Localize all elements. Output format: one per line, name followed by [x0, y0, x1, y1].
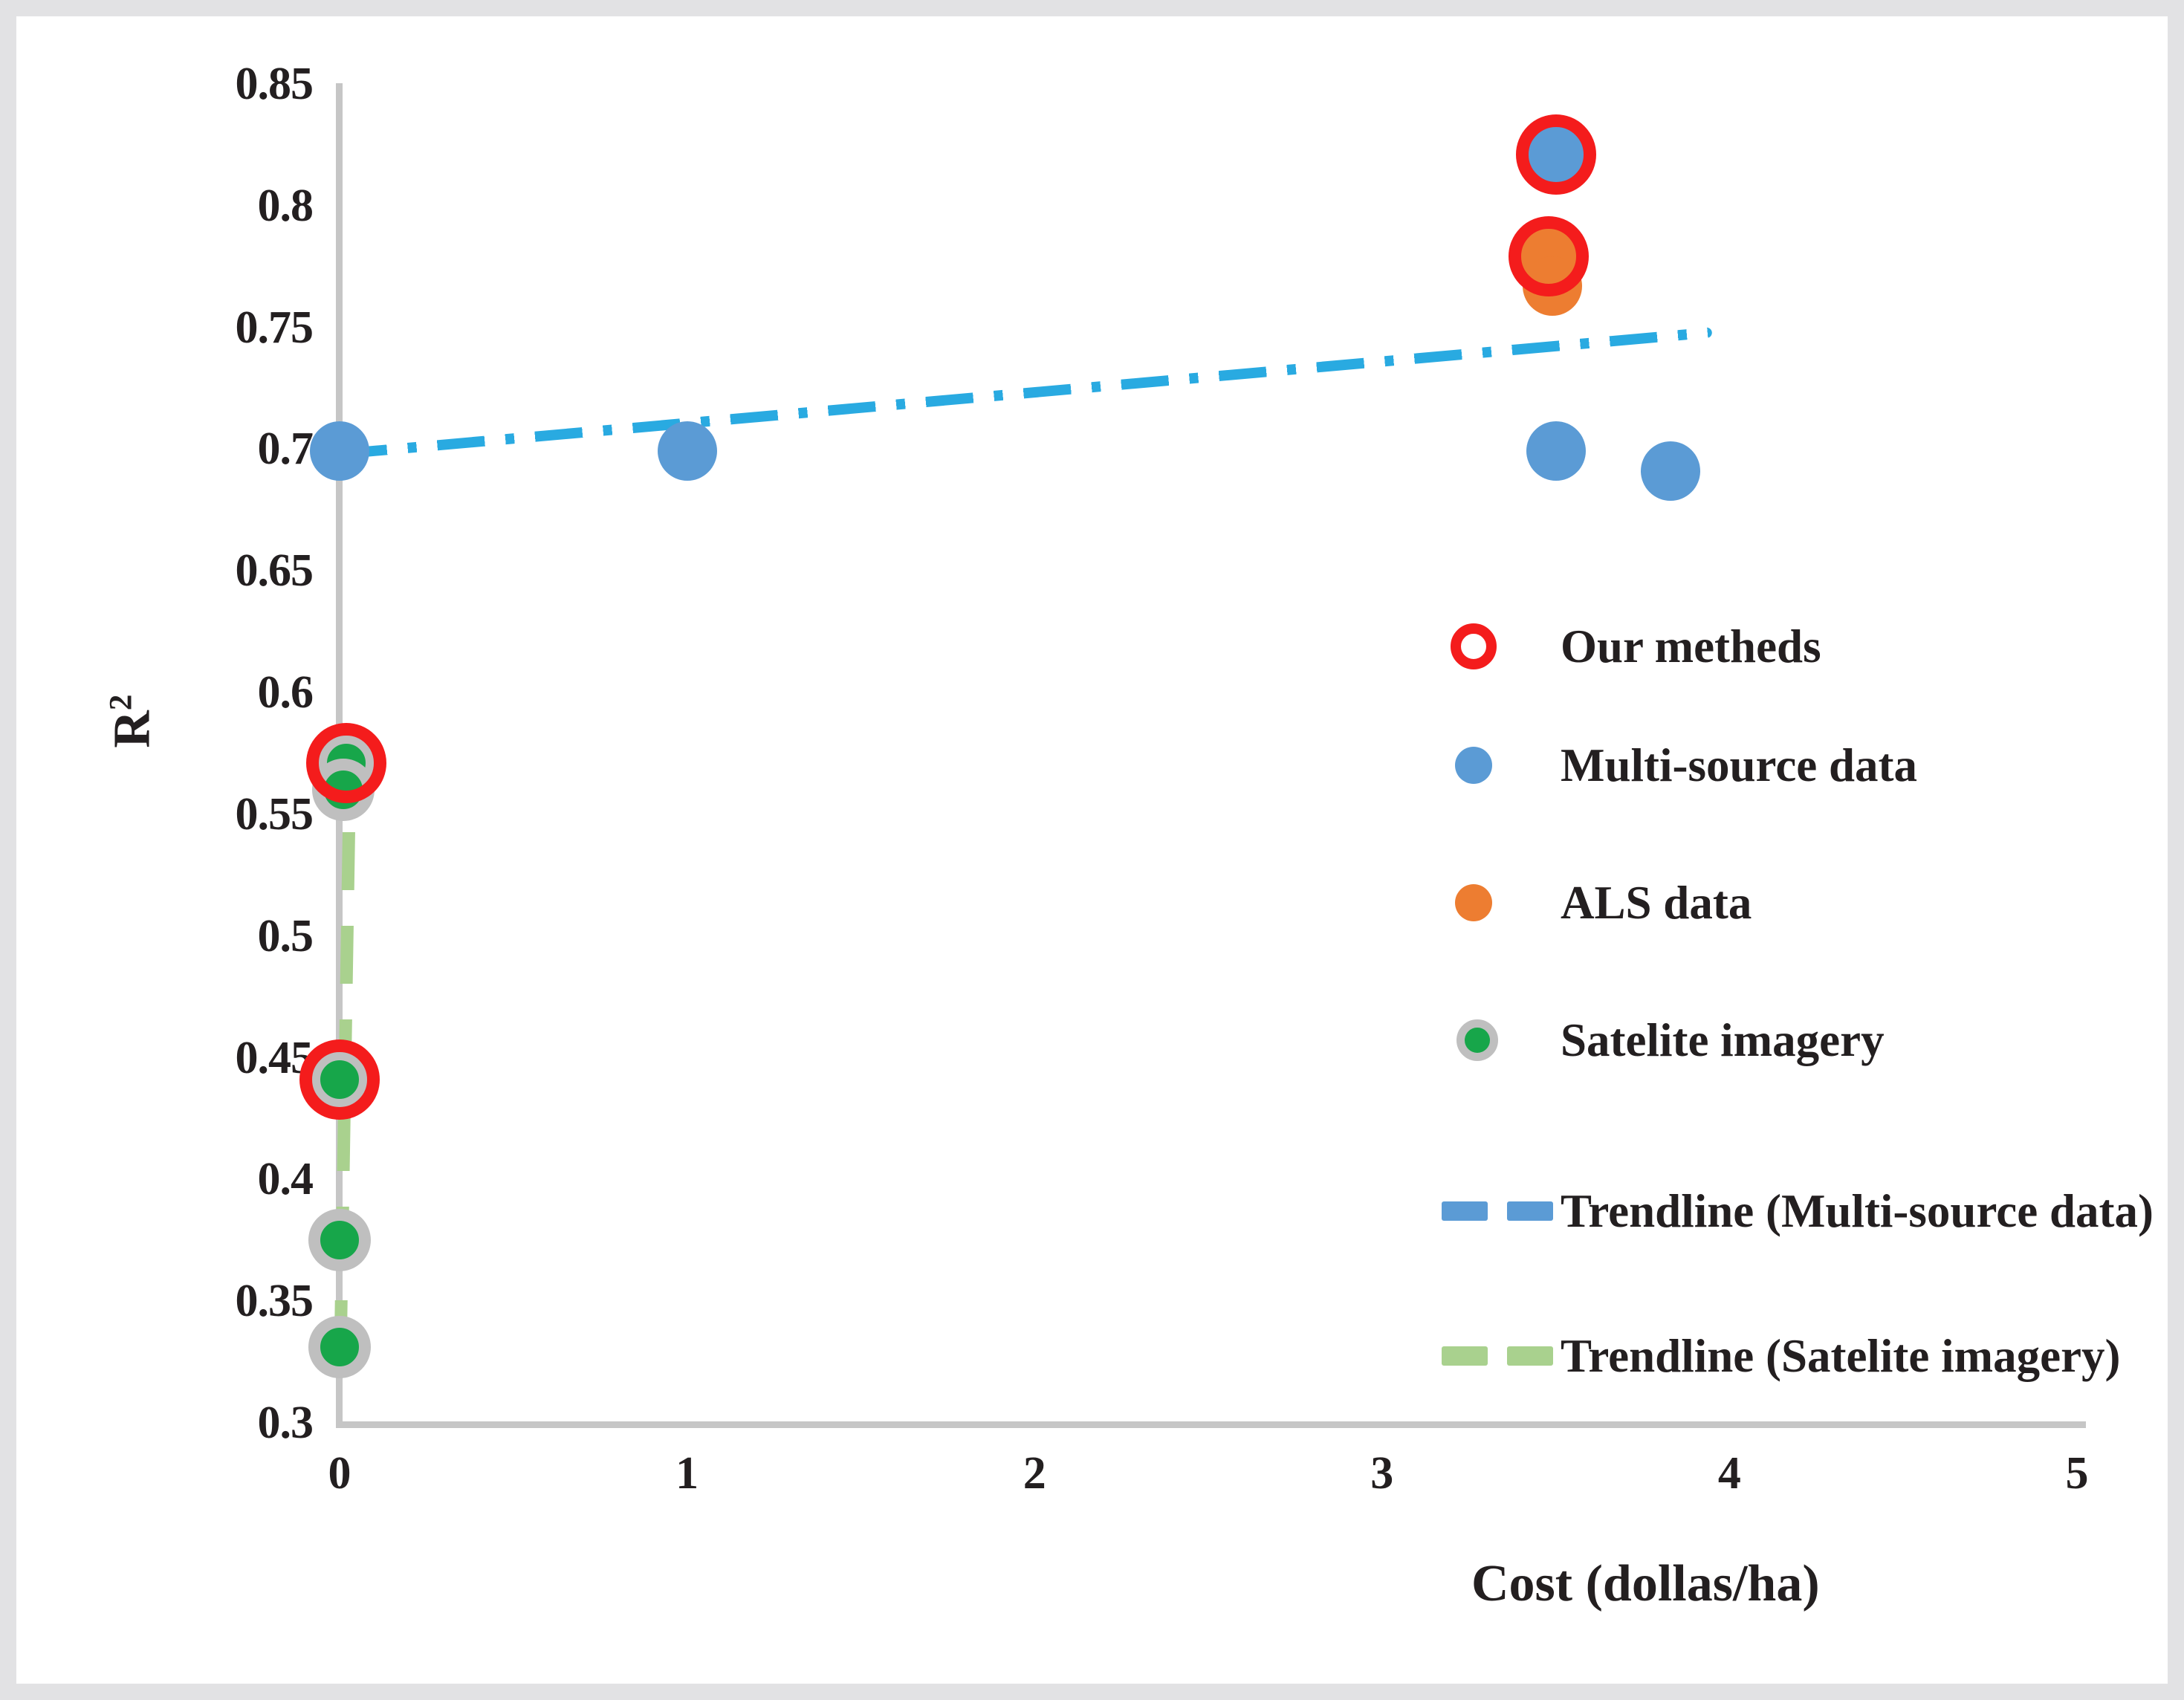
- red-ring-icon: [1451, 623, 1497, 669]
- trendline-multi-source-data: [339, 327, 1712, 459]
- legend-item[interactable]: Trendline (Satelite imagery): [1434, 1326, 2121, 1386]
- data-point-our-metheds: [1516, 114, 1596, 195]
- legend-item-label: ALS data: [1561, 880, 1752, 927]
- legend-item-label: Satelite imagery: [1561, 1017, 1885, 1064]
- filled-dot-icon: [1455, 884, 1492, 921]
- legend-filled-dot-icon: [1434, 736, 1561, 795]
- legend-dashed-line-icon: [1434, 1326, 1561, 1386]
- data-point-satelite-imagery: [308, 1316, 371, 1378]
- data-point-multi-source-data: [658, 421, 717, 481]
- legend-item[interactable]: Our metheds: [1434, 617, 1821, 676]
- data-point-multi-source-data: [310, 421, 369, 481]
- data-point-our-metheds: [306, 723, 386, 803]
- legend-green-dot-icon: [1434, 1010, 1561, 1070]
- legend-item-label: Trendline (Multi-source data): [1561, 1188, 2154, 1235]
- dashed-line-icon: [1442, 1346, 1553, 1366]
- data-point-our-metheds: [1509, 216, 1589, 296]
- legend-item-label: Multi-source data: [1561, 742, 1917, 789]
- legend-item[interactable]: Trendline (Multi-source data): [1434, 1181, 2154, 1241]
- scatter-chart-figure: R2 Cost (dollas/ha) 0.850.80.750.70.650.…: [0, 0, 2184, 1700]
- dashed-line-icon: [1442, 1201, 1553, 1221]
- green-dot-icon: [1456, 1019, 1498, 1061]
- legend-item-label: Our metheds: [1561, 623, 1821, 670]
- data-point-our-metheds: [299, 1039, 380, 1120]
- legend-item[interactable]: ALS data: [1434, 873, 1752, 932]
- plot-area: [0, 0, 2184, 1700]
- data-point-multi-source-data: [1526, 421, 1586, 481]
- data-point-satelite-imagery: [308, 1209, 371, 1271]
- data-point-multi-source-data: [1641, 441, 1700, 501]
- legend-item[interactable]: Satelite imagery: [1434, 1010, 1885, 1070]
- legend-open-circle-icon: [1434, 617, 1561, 676]
- filled-dot-icon: [1455, 747, 1492, 784]
- legend-dashed-line-icon: [1434, 1181, 1561, 1241]
- legend-item[interactable]: Multi-source data: [1434, 736, 1917, 795]
- legend-filled-dot-icon: [1434, 873, 1561, 932]
- legend-item-label: Trendline (Satelite imagery): [1561, 1333, 2121, 1380]
